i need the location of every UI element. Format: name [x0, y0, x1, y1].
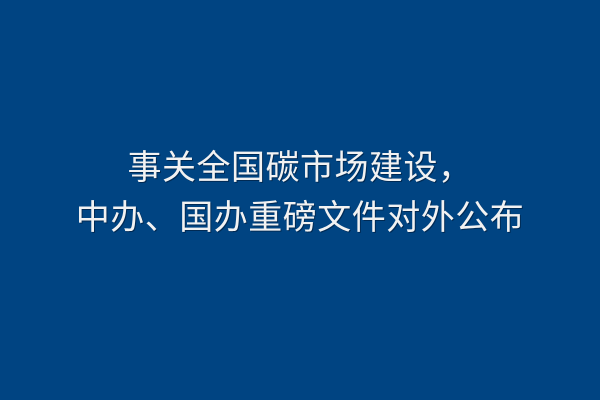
headline-line-2: 中办、国办重磅文件对外公布: [0, 194, 600, 244]
headline-block: 事关全国碳市场建设， 中办、国办重磅文件对外公布: [0, 144, 600, 244]
headline-line-1: 事关全国碳市场建设，: [0, 144, 600, 194]
news-title-card: 事关全国碳市场建设， 中办、国办重磅文件对外公布: [0, 0, 600, 400]
